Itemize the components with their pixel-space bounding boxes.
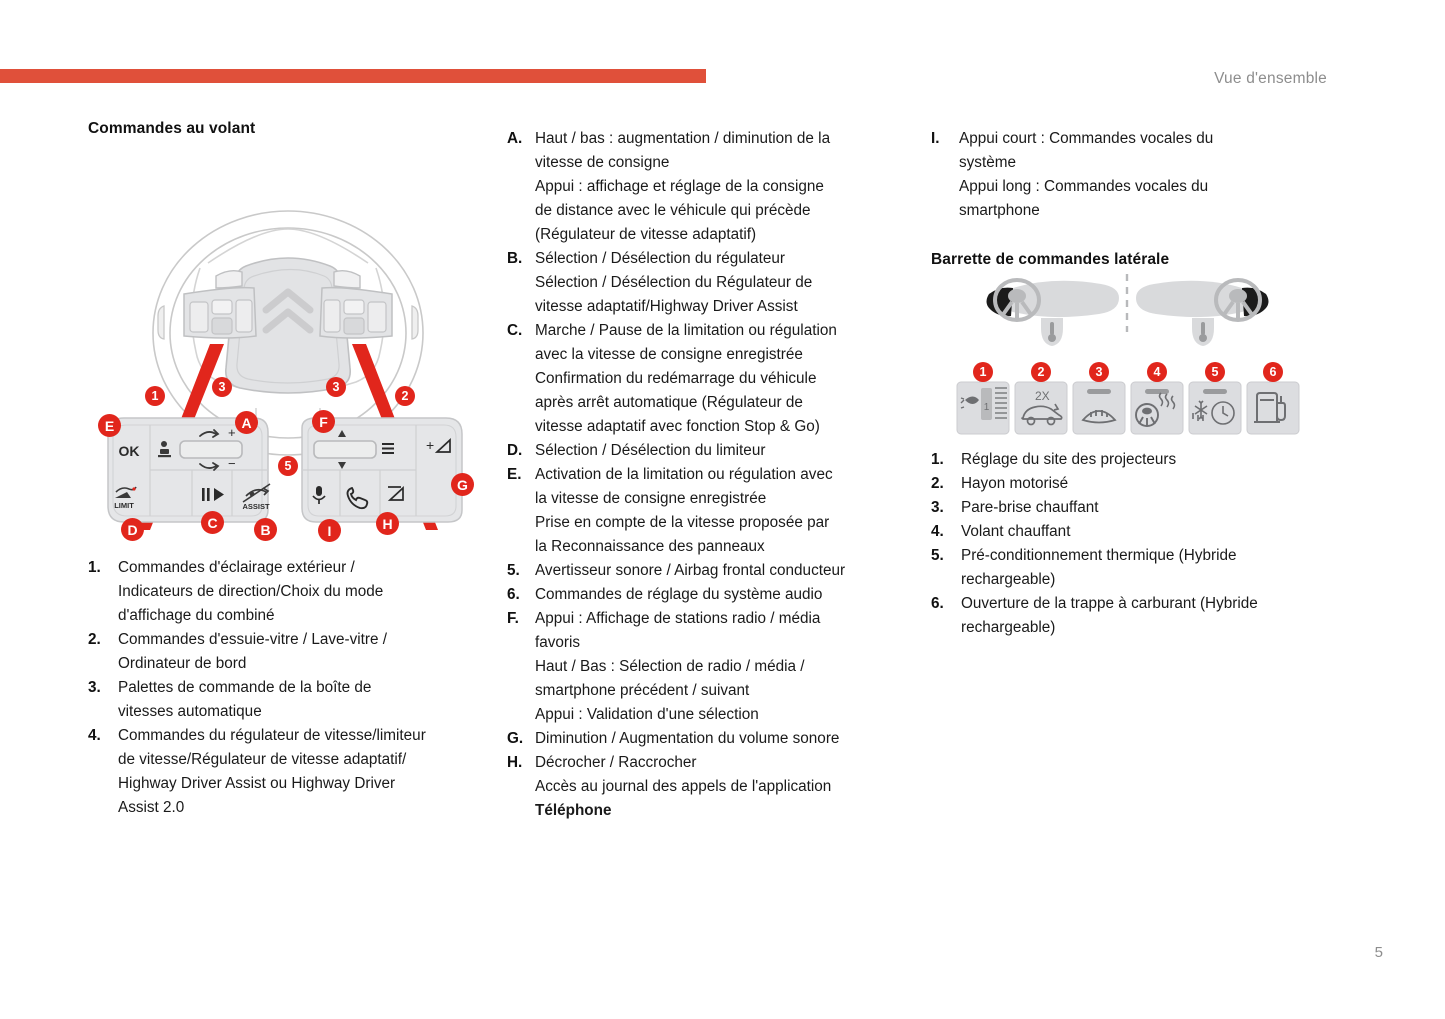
- list-item-text: Haut / bas : augmentation / diminution d…: [535, 127, 907, 247]
- list-item-text: Pare-brise chauffant: [961, 496, 1326, 520]
- list-item: E.Activation de la limitation ou régulat…: [507, 463, 907, 559]
- list-item-text: Appui court : Commandes vocales dusystèm…: [959, 127, 1326, 223]
- list-item-line: Pré-conditionnement thermique (Hybride: [961, 544, 1326, 568]
- list-item: 6.Ouverture de la trappe à carburant (Hy…: [931, 592, 1326, 640]
- list-item-line: Avertisseur sonore / Airbag frontal cond…: [535, 559, 907, 583]
- left-column-list: 1.Commandes d'éclairage extérieur /Indic…: [88, 556, 493, 820]
- list-item-text: Décrocher / RaccrocherAccès au journal d…: [535, 751, 907, 823]
- list-item-key: C.: [507, 319, 535, 343]
- list-item-line: (Régulateur de vitesse adaptatif): [535, 223, 907, 247]
- list-item-line: d'affichage du combiné: [118, 604, 493, 628]
- list-item-text: Appui : Affichage de stations radio / mé…: [535, 607, 907, 727]
- pad-badge-C: C: [201, 511, 224, 534]
- list-item: 1.Commandes d'éclairage extérieur /Indic…: [88, 556, 493, 628]
- page-header-title: Vue d'ensemble: [1214, 70, 1327, 88]
- list-item-key: 5.: [931, 544, 961, 568]
- svg-text:LIMIT: LIMIT: [114, 501, 134, 510]
- sidebar-badge-5: 5: [1205, 362, 1225, 382]
- list-item-text: Commandes d'essuie-vitre / Lave-vitre /O…: [118, 628, 493, 676]
- list-item-key: F.: [507, 607, 535, 631]
- list-item-line: Commandes du régulateur de vitesse/limit…: [118, 724, 493, 748]
- pad-badge-I: I: [318, 519, 341, 542]
- side-control-bar-list-wrap: 1.Réglage du site des projecteurs2.Hayon…: [931, 448, 1326, 640]
- list-item: 5.Pré-conditionnement thermique (Hybride…: [931, 544, 1326, 592]
- list-item-line: smartphone: [959, 199, 1326, 223]
- list-item-key: 1.: [931, 448, 961, 472]
- list-item-line: vitesses automatique: [118, 700, 493, 724]
- list-item-line: Commandes d'éclairage extérieur /: [118, 556, 493, 580]
- list-item-text: Volant chauffant: [961, 520, 1326, 544]
- page-number: 5: [1375, 944, 1383, 961]
- sidebar-badge-3: 3: [1089, 362, 1109, 382]
- list-item-line: Hayon motorisé: [961, 472, 1326, 496]
- steering-wheel-diagram: 1 3 3 2 4 5 6 OK + −: [88, 158, 488, 548]
- list-item-key: E.: [507, 463, 535, 487]
- list-item-line: Appui : affichage et réglage de la consi…: [535, 175, 907, 199]
- list-item: H.Décrocher / RaccrocherAccès au journal…: [507, 751, 907, 823]
- list-item-text: Palettes de commande de la boîte devites…: [118, 676, 493, 724]
- list-item-line: vitesse adaptatif avec fonction Stop & G…: [535, 415, 907, 439]
- sidebar-badge-6: 6: [1263, 362, 1283, 382]
- list-item: A.Haut / bas : augmentation / diminution…: [507, 127, 907, 247]
- list-item-line: Haut / bas : augmentation / diminution d…: [535, 127, 907, 151]
- list-item-line: avec la vitesse de consigne enregistrée: [535, 343, 907, 367]
- list-item-line: Prise en compte de la vitesse proposée p…: [535, 511, 907, 535]
- sidebar-badge-4: 4: [1147, 362, 1167, 382]
- side-control-bar-svg: 1 2X: [955, 270, 1300, 445]
- list-item-key: 2.: [88, 628, 118, 652]
- tailgate-2x-label: 2X: [1035, 389, 1050, 403]
- steering-controls-list: 1.Commandes d'éclairage extérieur /Indic…: [88, 556, 493, 820]
- list-item-line: vitesse de consigne: [535, 151, 907, 175]
- list-item-line: Ordinateur de bord: [118, 652, 493, 676]
- list-item: G.Diminution / Augmentation du volume so…: [507, 727, 907, 751]
- control-pads-svg: OK + − LIMIT: [88, 408, 488, 538]
- list-item-key: 3.: [931, 496, 961, 520]
- list-item-line-bold: Téléphone: [535, 799, 907, 823]
- wheel-badge-1: 1: [145, 386, 165, 406]
- list-item: 3.Palettes de commande de la boîte devit…: [88, 676, 493, 724]
- header-accent-bar: [0, 69, 706, 83]
- pad-badge-G: G: [451, 473, 474, 496]
- list-item-line: Volant chauffant: [961, 520, 1326, 544]
- list-item: 5.Avertisseur sonore / Airbag frontal co…: [507, 559, 907, 583]
- sidebar-badge-1: 1: [973, 362, 993, 382]
- pad-badge-H: H: [376, 512, 399, 535]
- list-item-line: Palettes de commande de la boîte de: [118, 676, 493, 700]
- list-item-key: 4.: [88, 724, 118, 748]
- list-item-line: Décrocher / Raccrocher: [535, 751, 907, 775]
- list-item-line: Appui : Validation d'une sélection: [535, 703, 907, 727]
- list-item-line: vitesse adaptatif/Highway Driver Assist: [535, 295, 907, 319]
- pad-badge-E: E: [98, 414, 121, 437]
- list-item-line: Highway Driver Assist ou Highway Driver: [118, 772, 493, 796]
- list-item-text: Ouverture de la trappe à carburant (Hybr…: [961, 592, 1326, 640]
- wheel-badge-2: 2: [395, 386, 415, 406]
- svg-text:OK: OK: [119, 443, 140, 459]
- svg-text:ASSIST: ASSIST: [242, 502, 270, 511]
- list-item-line: de vitesse/Régulateur de vitesse adaptat…: [118, 748, 493, 772]
- list-item: 1.Réglage du site des projecteurs: [931, 448, 1326, 472]
- list-item-key: 5.: [507, 559, 535, 583]
- steering-functions-list: A.Haut / bas : augmentation / diminution…: [507, 127, 907, 823]
- list-item-text: Sélection / Désélection du régulateurSél…: [535, 247, 907, 319]
- list-item-line: Réglage du site des projecteurs: [961, 448, 1326, 472]
- list-item-text: Diminution / Augmentation du volume sono…: [535, 727, 907, 751]
- list-item-key: I.: [931, 127, 959, 151]
- list-item-line: de distance avec le véhicule qui précède: [535, 199, 907, 223]
- wheel-badge-3-right: 3: [326, 377, 346, 397]
- list-item-line: Commandes de réglage du système audio: [535, 583, 907, 607]
- list-item: 4.Volant chauffant: [931, 520, 1326, 544]
- svg-text:+: +: [426, 437, 434, 453]
- list-item-key: 6.: [507, 583, 535, 607]
- list-item-line: après arrêt automatique (Régulateur de: [535, 391, 907, 415]
- list-item-line: Diminution / Augmentation du volume sono…: [535, 727, 907, 751]
- list-item-line: Sélection / Désélection du Régulateur de: [535, 271, 907, 295]
- right-column: I.Appui court : Commandes vocales dusyst…: [931, 127, 1326, 285]
- list-item: C.Marche / Pause de la limitation ou rég…: [507, 319, 907, 439]
- list-item-line: système: [959, 151, 1326, 175]
- list-item-text: Réglage du site des projecteurs: [961, 448, 1326, 472]
- left-column: Commandes au volant: [88, 120, 488, 152]
- list-item-key: D.: [507, 439, 535, 463]
- list-item-line: Assist 2.0: [118, 796, 493, 820]
- side-control-bar-list: 1.Réglage du site des projecteurs2.Hayon…: [931, 448, 1326, 640]
- list-item-key: A.: [507, 127, 535, 151]
- list-item-line: Sélection / Désélection du régulateur: [535, 247, 907, 271]
- list-item-text: Marche / Pause de la limitation ou régul…: [535, 319, 907, 439]
- pad-badge-A: A: [235, 411, 258, 434]
- list-item-text: Commandes de réglage du système audio: [535, 583, 907, 607]
- list-item-line: favoris: [535, 631, 907, 655]
- list-item-line: Pare-brise chauffant: [961, 496, 1326, 520]
- list-item-text: Pré-conditionnement thermique (Hybridere…: [961, 544, 1326, 592]
- list-item-line: Marche / Pause de la limitation ou régul…: [535, 319, 907, 343]
- list-item-line: Indicateurs de direction/Choix du mode: [118, 580, 493, 604]
- list-item: 3.Pare-brise chauffant: [931, 496, 1326, 520]
- list-item-text: Hayon motorisé: [961, 472, 1326, 496]
- list-item-line: Appui : Affichage de stations radio / mé…: [535, 607, 907, 631]
- list-item-key: 3.: [88, 676, 118, 700]
- list-item: 6.Commandes de réglage du système audio: [507, 583, 907, 607]
- list-item: 2.Hayon motorisé: [931, 472, 1326, 496]
- list-item-key: 1.: [88, 556, 118, 580]
- pad-badge-F: F: [312, 410, 335, 433]
- sidebar-badge-2: 2: [1031, 362, 1051, 382]
- list-item-line: Commandes d'essuie-vitre / Lave-vitre /: [118, 628, 493, 652]
- list-item-text: Commandes d'éclairage extérieur /Indicat…: [118, 556, 493, 628]
- list-item-key: G.: [507, 727, 535, 751]
- steering-controls-title: Commandes au volant: [88, 120, 488, 138]
- pad-badge-D: D: [121, 518, 144, 541]
- list-item: F.Appui : Affichage de stations radio / …: [507, 607, 907, 727]
- list-item-line: Haut / Bas : Sélection de radio / média …: [535, 655, 907, 679]
- list-item-line: Confirmation du redémarrage du véhicule: [535, 367, 907, 391]
- list-item-line: la vitesse de consigne enregistrée: [535, 487, 907, 511]
- list-item-line: rechargeable): [961, 568, 1326, 592]
- list-item-line: Appui court : Commandes vocales du: [959, 127, 1326, 151]
- list-item-line: Sélection / Désélection du limiteur: [535, 439, 907, 463]
- list-item-text: Avertisseur sonore / Airbag frontal cond…: [535, 559, 907, 583]
- list-item-key: B.: [507, 247, 535, 271]
- list-item-key: H.: [507, 751, 535, 775]
- svg-text:+: +: [228, 425, 236, 440]
- list-item-key: 6.: [931, 592, 961, 616]
- list-item-key: 4.: [931, 520, 961, 544]
- svg-text:1: 1: [984, 402, 990, 413]
- list-item-text: Activation de la limitation ou régulatio…: [535, 463, 907, 559]
- pad-badge-B: B: [254, 518, 277, 541]
- middle-column: A.Haut / bas : augmentation / diminution…: [507, 127, 907, 823]
- list-item-key: 2.: [931, 472, 961, 496]
- list-item-line: Accès au journal des appels de l'applica…: [535, 775, 907, 799]
- svg-text:−: −: [228, 456, 236, 471]
- list-item: D.Sélection / Désélection du limiteur: [507, 439, 907, 463]
- list-item-line: Appui long : Commandes vocales du: [959, 175, 1326, 199]
- side-control-bar-title: Barrette de commandes latérale: [931, 251, 1326, 269]
- list-item: B.Sélection / Désélection du régulateurS…: [507, 247, 907, 319]
- list-item-line: smartphone précédent / suivant: [535, 679, 907, 703]
- list-item-text: Sélection / Désélection du limiteur: [535, 439, 907, 463]
- voice-controls-list: I.Appui court : Commandes vocales dusyst…: [931, 127, 1326, 223]
- list-item: I.Appui court : Commandes vocales dusyst…: [931, 127, 1326, 223]
- side-control-bar-diagram: 1 2X: [955, 270, 1300, 445]
- wheel-badge-3-left: 3: [212, 377, 232, 397]
- list-item-line: Activation de la limitation ou régulatio…: [535, 463, 907, 487]
- list-item-line: la Reconnaissance des panneaux: [535, 535, 907, 559]
- list-item-text: Commandes du régulateur de vitesse/limit…: [118, 724, 493, 820]
- list-item-line: Ouverture de la trappe à carburant (Hybr…: [961, 592, 1326, 616]
- list-item: 4.Commandes du régulateur de vitesse/lim…: [88, 724, 493, 820]
- list-item: 2.Commandes d'essuie-vitre / Lave-vitre …: [88, 628, 493, 676]
- list-item-line: rechargeable): [961, 616, 1326, 640]
